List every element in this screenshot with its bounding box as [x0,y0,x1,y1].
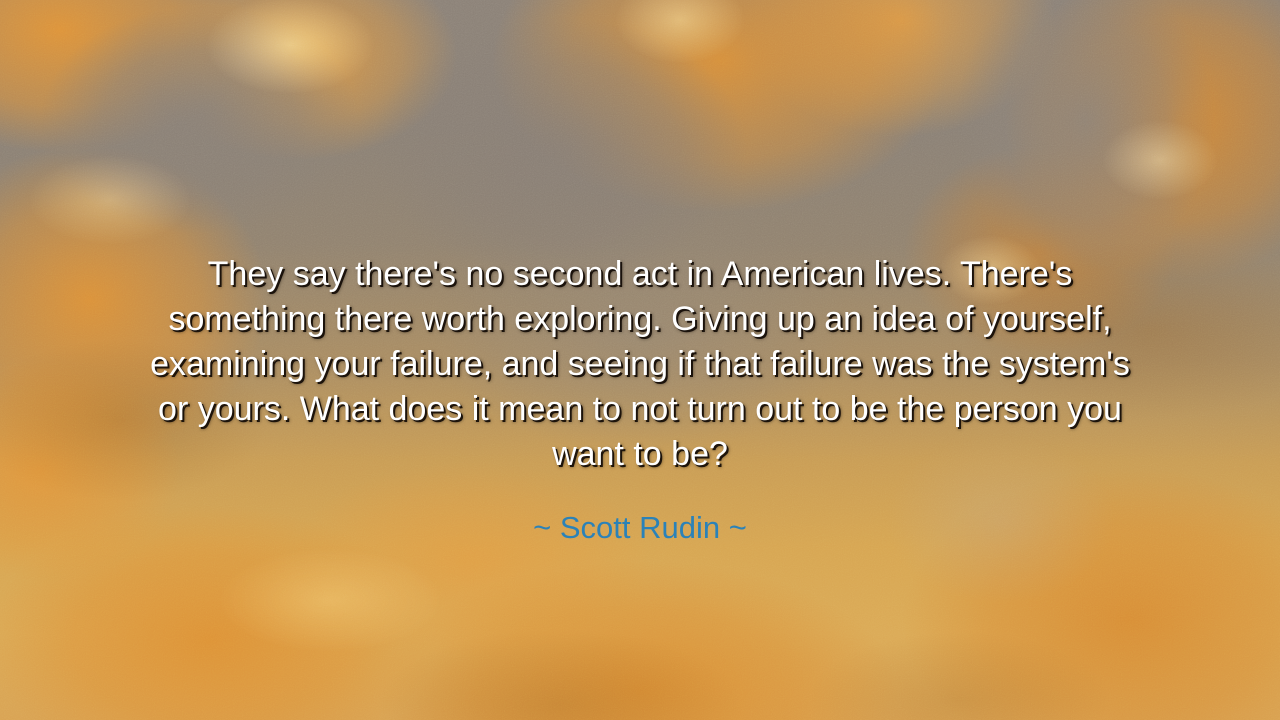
quote-text: They say there's no second act in Americ… [135,252,1145,477]
quote-wallpaper: They say there's no second act in Americ… [0,0,1280,720]
quote-block: They say there's no second act in Americ… [135,252,1145,547]
quote-attribution: ~ Scott Rudin ~ [135,477,1145,547]
